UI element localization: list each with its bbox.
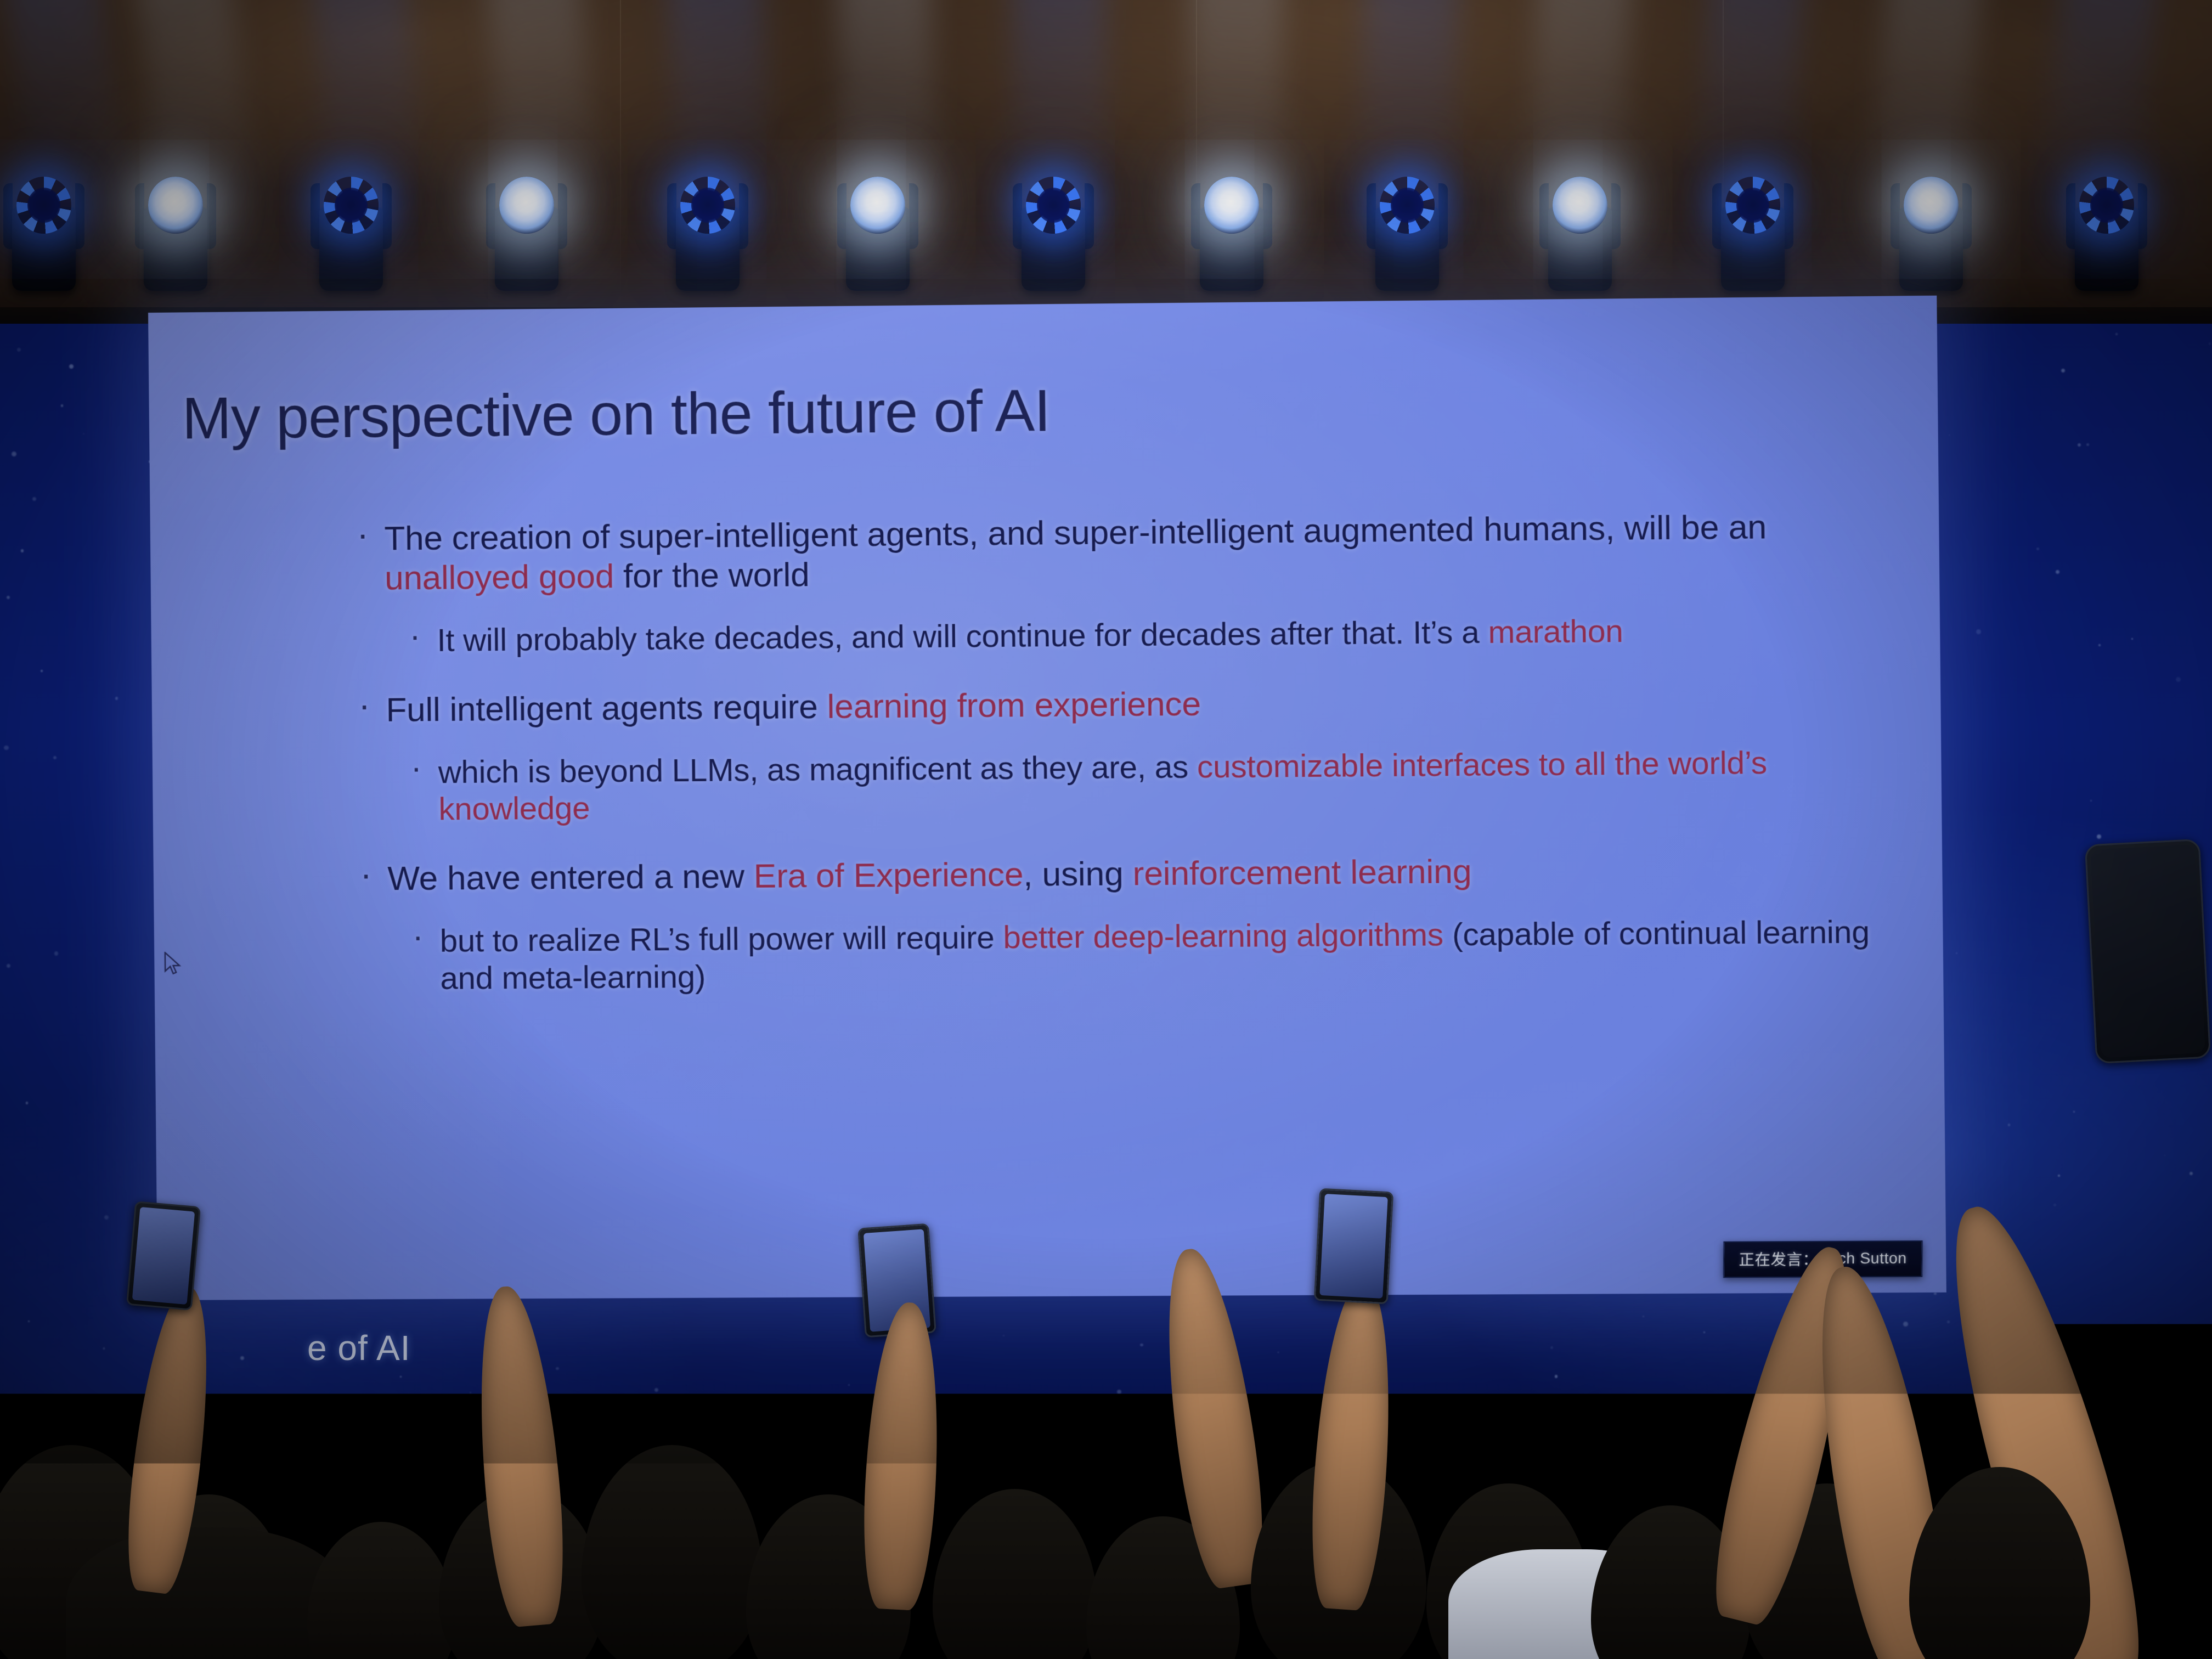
signage-chinese-subtitle: 前沿 [2097,947,2212,990]
backdrop-particle [982,1502,985,1505]
speaker-caption-bar: 正在发言： Rich Sutton [1723,1240,1923,1278]
backdrop-particle [1555,1375,1558,1378]
backdrop-particle [1754,1520,1756,1522]
backdrop-particle [2131,638,2133,640]
backdrop-particle [1088,1598,1092,1601]
backdrop-particle [1370,1379,1374,1383]
backdrop-particle [1742,1647,1743,1649]
backdrop-particle [538,1581,543,1585]
moving-head-light-blue [307,165,395,294]
backdrop-particle [83,433,84,435]
backdrop-particle [1635,1551,1640,1556]
backdrop-particle [400,1376,402,1378]
signage-english-label: PLEN [2097,904,2212,923]
highlighted-phrase: better deep-learning algorithms [1003,917,1443,955]
bullet-text: but to realize RL’s full power will requ… [439,919,1003,959]
backdrop-particle [848,1384,850,1386]
backdrop-particle [2166,1547,2169,1549]
backdrop-particle [2164,1155,2165,1156]
backdrop-particle [1643,1316,1644,1317]
backdrop-particle [653,1405,657,1408]
bullet-text: for the world [614,556,810,595]
backdrop-particle [2190,1172,2193,1175]
moving-head-light-white [132,165,219,294]
backdrop-particle [1598,1547,1602,1550]
backdrop-particle [21,549,24,552]
backdrop-particle [1956,952,1958,955]
moving-head-light-white [1536,165,1624,294]
slide-bullet-list: The creation of super-intelligent agents… [353,506,1916,998]
backdrop-particle [1838,1449,1841,1453]
backdrop-particle [672,1503,676,1508]
backdrop-particle [111,1578,112,1579]
backdrop-particle [2078,443,2081,447]
backdrop-particle [115,697,118,699]
event-signage: 科 PLEN 前沿 [2097,845,2212,990]
backdrop-particle [2139,1506,2142,1509]
bullet-text: Full intelligent agents require [386,687,827,729]
light-lens-white [499,177,554,234]
bullet-text: We have entered a new [387,857,754,898]
caption-label: 正在发言： [1739,1248,1819,1270]
light-lens-blue [1380,177,1435,234]
backdrop-banner-text: e of AI [307,1328,410,1368]
backdrop-particle [69,364,74,369]
light-lens-white [1553,177,1607,234]
backdrop-particle [1903,1322,1908,1326]
backdrop-particle [61,404,63,407]
highlighted-phrase: Era of Experience [753,856,1023,896]
slide-title: My perspective on the future of AI [182,376,1051,453]
moving-head-light-blue [1009,165,1097,294]
backdrop-particle [2056,570,2059,574]
slide-bullet-level-2: but to realize RL’s full power will requ… [409,913,1915,997]
bullet-text: It will probably take decades, and will … [437,614,1488,658]
backdrop-particle [1767,1566,1771,1571]
backdrop-particle [1781,1405,1784,1407]
backdrop-particle [1117,1390,1121,1394]
backdrop-particle [983,1600,984,1601]
moving-head-light-blue [2063,165,2151,294]
backdrop-particle [436,1571,441,1575]
backdrop-particle [470,1392,471,1393]
backdrop-particle [2097,834,2101,839]
backdrop-particle [866,1326,870,1330]
backdrop-particle [167,1623,170,1626]
slide-bullet-level-2: which is beyond LLMs, as magnificent as … [407,743,1914,828]
backdrop-particle [28,1321,30,1322]
light-lens-blue [16,177,71,234]
backdrop-particle [2177,1339,2182,1344]
backdrop-particle [2053,1204,2056,1206]
backdrop-particle [26,1102,29,1104]
backdrop-particle [2090,800,2092,802]
backdrop-particle [1003,1335,1005,1336]
backdrop-particle [54,951,59,956]
backdrop-particle [4,746,9,751]
backdrop-particle [2001,1613,2005,1616]
backdrop-particle [2061,369,2065,373]
backdrop-particle [1663,1534,1666,1537]
highlighted-phrase: reinforcement learning [1132,853,1471,893]
bullet-text: which is beyond LLMs, as magnificent as … [438,749,1198,790]
light-lens-blue [1725,177,1780,234]
backdrop-particle [893,1423,897,1427]
backdrop-particle [2008,1124,2010,1126]
backdrop-particle [1947,1321,1949,1323]
moving-head-light-blue [1363,165,1451,294]
bullet-text: , using [1023,855,1133,894]
backdrop-particle [1278,1352,1279,1353]
backdrop-particle [17,348,21,352]
backdrop-particle [1483,1607,1486,1610]
backdrop-particle [654,1388,658,1392]
slide-bullet-level-1: The creation of super-intelligent agents… [353,506,1911,599]
backdrop-particle [2073,1111,2075,1113]
moving-head-light-blue [664,165,752,294]
backdrop-particle [889,1337,892,1340]
backdrop-particle [2040,1330,2043,1333]
backdrop-particle [2209,342,2211,345]
backdrop-particle [1224,1526,1227,1528]
backdrop-particle [1934,1293,1937,1295]
moving-head-light-blue [1709,165,1797,294]
backdrop-particle [1703,1331,1705,1333]
light-lens-white [1904,177,1959,234]
backdrop-particle [399,1451,401,1453]
signage-chinese-title: 科 [2097,845,2212,895]
backdrop-particle [556,1367,558,1370]
backdrop-particle [523,1316,526,1318]
backdrop-particle [240,1356,244,1360]
mouse-cursor-icon [163,952,184,977]
highlighted-phrase: marathon [1488,613,1623,650]
backdrop-particle [41,670,43,672]
backdrop-particle [104,1215,109,1220]
backdrop-particle [53,756,57,759]
backdrop-particle [2176,677,2181,682]
light-lens-blue [680,177,735,234]
backdrop-particle [1611,1460,1613,1462]
backdrop-particle [1870,1403,1871,1404]
backdrop-particle [296,1516,299,1520]
moving-head-light-white [1887,165,1975,294]
backdrop-particle [12,452,16,456]
highlighted-phrase: unalloyed good [385,557,614,597]
light-lens-blue [2079,177,2134,234]
light-lens-blue [324,177,379,234]
light-lens-white [148,177,203,234]
backdrop-particle [1976,629,1981,634]
backdrop-particle [1550,1346,1553,1349]
moving-head-light-white [834,165,922,294]
backdrop-particle [2115,333,2118,335]
light-lens-white [1204,177,1259,234]
backdrop-particle [1127,1643,1129,1645]
backdrop-particle [1966,1401,1971,1406]
backdrop-particle [877,1447,880,1450]
highlighted-phrase: learning from experience [827,685,1201,725]
presentation-slide[interactable]: My perspective on the future of AI The c… [148,296,1946,1300]
backdrop-particle [2036,548,2039,550]
backdrop-particle [32,497,36,501]
backdrop-particle [405,1445,409,1448]
backdrop-particle [494,1639,498,1643]
conference-photo-scene: 科 PLEN 前沿 e of AI My perspective on the … [0,0,2212,1659]
light-lens-blue [1026,177,1081,234]
moving-head-light-white [483,165,571,294]
backdrop-particle [2058,1175,2060,1177]
backdrop-particle [7,596,10,600]
backdrop-particle [1949,435,1950,436]
backdrop-particle [945,1595,950,1600]
backdrop-particle [103,1347,105,1350]
backdrop-particle [1140,1344,1143,1347]
moving-head-light-blue [0,165,88,294]
backdrop-particle [2086,443,2090,447]
backdrop-particle [7,964,10,968]
caption-speaker: Rich Sutton [1823,1249,1907,1267]
backdrop-particle [183,1426,188,1431]
backdrop-particle [915,1394,918,1397]
backdrop-particle [581,1499,584,1502]
light-lens-white [850,177,905,234]
backdrop-particle [854,1533,856,1536]
backdrop-particle [1103,1534,1107,1538]
backdrop-particle [1834,1617,1838,1621]
moving-head-light-white [1188,165,1276,294]
wall-seam [620,0,621,324]
backdrop-particle [1696,1470,1698,1472]
bullet-text: The creation of super-intelligent agents… [384,508,1767,557]
backdrop-particle [7,1447,8,1449]
backdrop-particle [324,1539,327,1542]
backdrop-particle [524,1356,528,1359]
backdrop-particle [2098,644,2101,646]
